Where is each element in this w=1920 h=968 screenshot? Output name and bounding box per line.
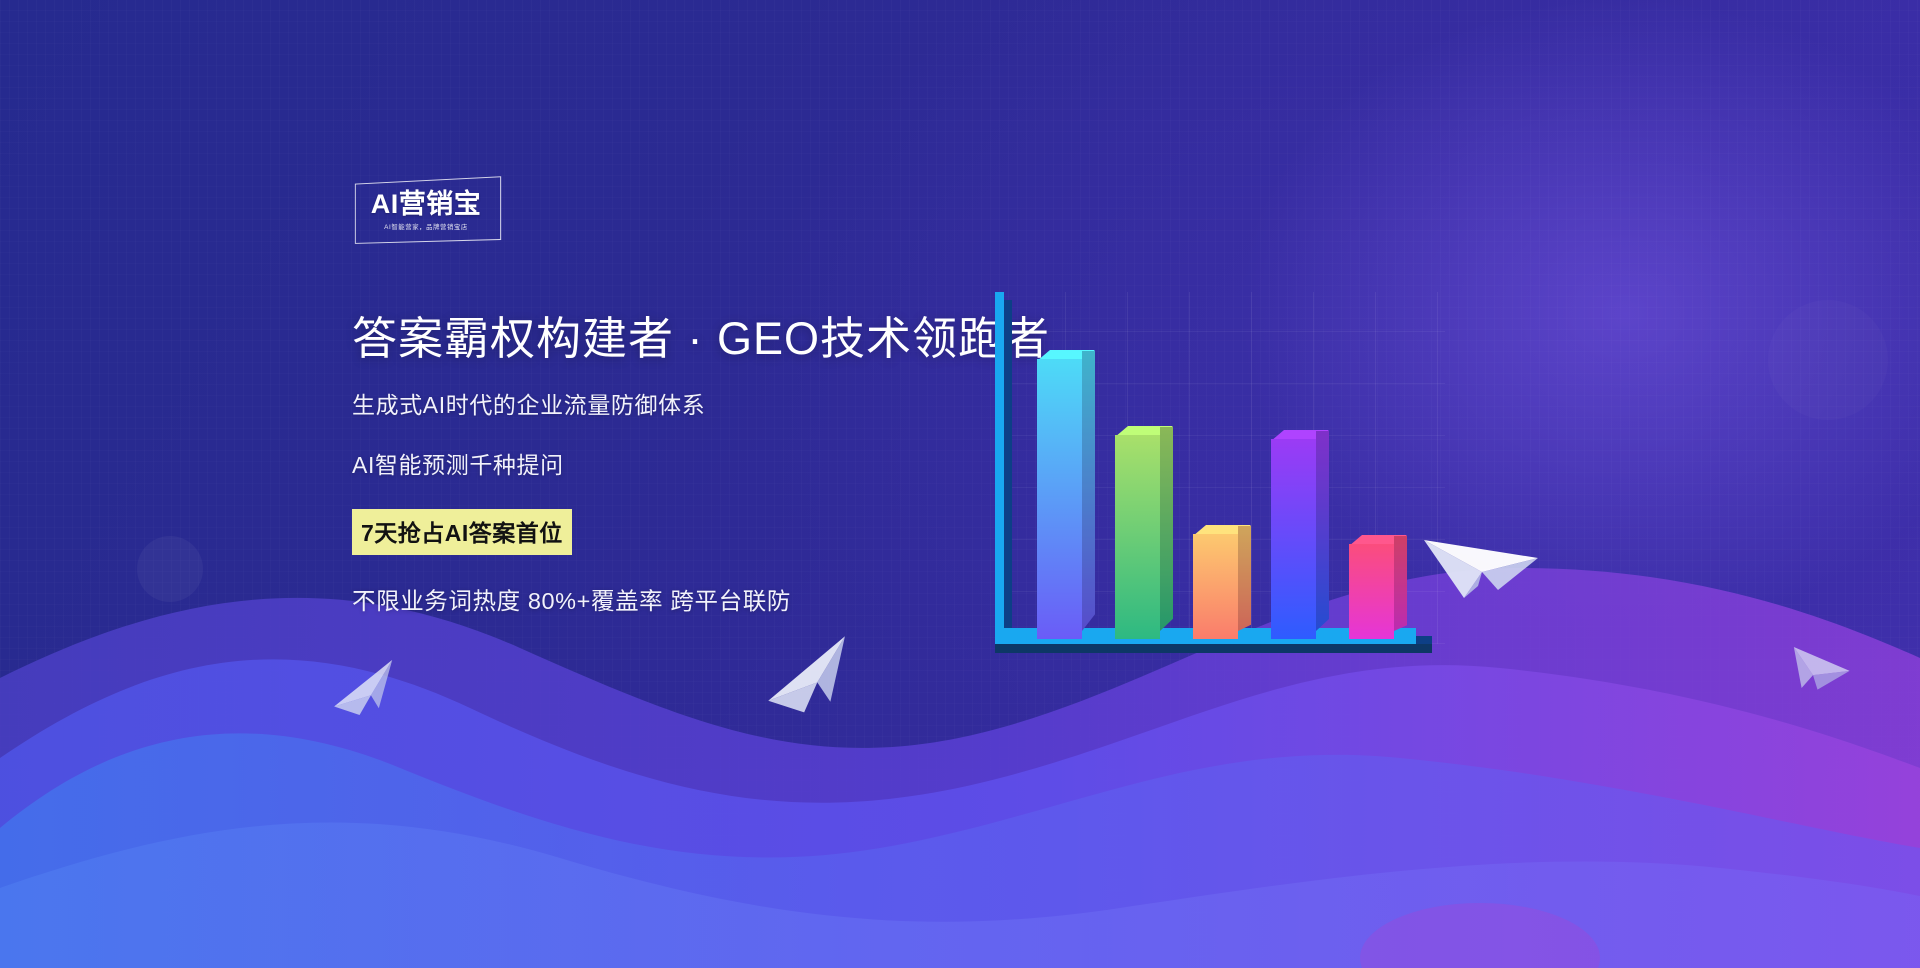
- chart-bar-side: [1316, 431, 1329, 631]
- chart-bar: [1193, 534, 1238, 639]
- chart-bar-side: [1160, 427, 1173, 631]
- chart-bar-side: [1082, 351, 1095, 631]
- hero-subtitle-2: AI智能预测千种提问: [352, 452, 1052, 480]
- decorative-circle-right: [1768, 300, 1888, 420]
- chart-bar-face: [1115, 435, 1160, 639]
- chart-bar-face: [1349, 544, 1394, 639]
- chart-bar: [1271, 439, 1316, 639]
- hero-subtitle-3: 不限业务词热度 80%+覆盖率 跨平台联防: [352, 587, 1052, 615]
- hero-subtitle-1: 生成式AI时代的企业流量防御体系: [352, 392, 1052, 420]
- banner-canvas: AI营销宝 AI智能营家，品牌营销宝店 答案霸权构建者 · GEO技术领跑者 生…: [0, 0, 1920, 968]
- hero-highlight-row: 7天抢占AI答案首位: [352, 509, 1052, 555]
- brand-logo[interactable]: AI营销宝 AI智能营家，品牌营销宝店: [352, 180, 500, 242]
- logo-wordmark: AI营销宝: [363, 189, 489, 219]
- logo-tagline: AI智能营家，品牌营销宝店: [364, 221, 487, 231]
- chart-y-axis-shadow: [1004, 300, 1012, 636]
- page-title: 答案霸权构建者 · GEO技术领跑者: [352, 312, 1052, 365]
- chart-bar-side: [1238, 526, 1251, 631]
- paper-plane-icon: [326, 655, 403, 722]
- paper-plane-icon: [1420, 512, 1540, 604]
- bar-chart-illustration: [975, 292, 1445, 664]
- paper-plane-icon: [1787, 635, 1857, 697]
- chart-y-axis: [995, 292, 1004, 636]
- chart-bar-face: [1037, 359, 1082, 639]
- chart-bar: [1115, 435, 1160, 639]
- chart-base-front: [995, 644, 1432, 653]
- chart-bar: [1037, 359, 1082, 639]
- chart-bar-face: [1193, 534, 1238, 639]
- chart-bar-face: [1271, 439, 1316, 639]
- hero-highlight-badge: 7天抢占AI答案首位: [352, 509, 572, 555]
- hero-copy: 答案霸权构建者 · GEO技术领跑者 生成式AI时代的企业流量防御体系 AI智能…: [352, 312, 1052, 615]
- chart-bar-side: [1394, 536, 1407, 631]
- chart-bar: [1349, 544, 1394, 639]
